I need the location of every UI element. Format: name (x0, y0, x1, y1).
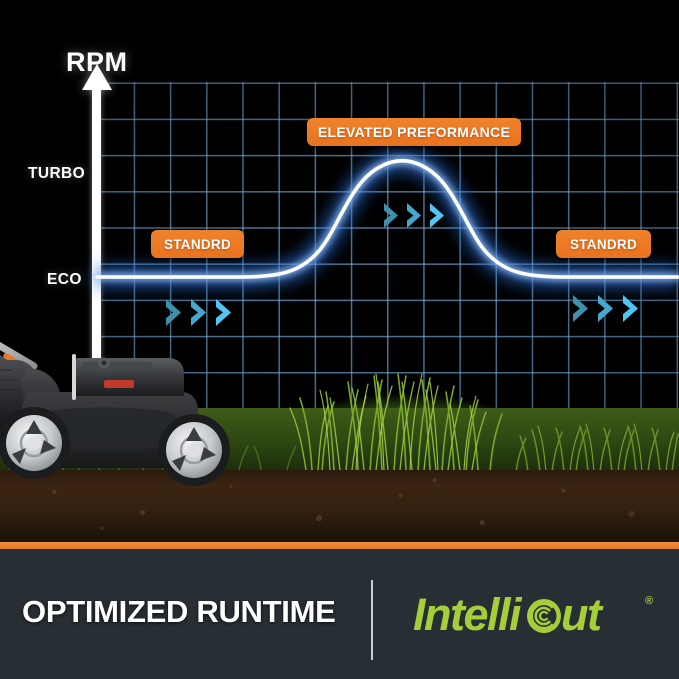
intellicut-logo: Intelli ut ® (413, 588, 663, 644)
svg-text:ut: ut (561, 589, 604, 640)
lawn-mower-image (0, 330, 262, 490)
mower-wheel-rear (0, 407, 70, 479)
chevron-group-mid (381, 201, 448, 230)
mower-wheel-front (158, 414, 230, 486)
logo-wordmark: Intelli ut (413, 589, 604, 640)
badge-elevated-performance: ELEVATED PREFORMANCE (307, 118, 521, 146)
mower-battery (74, 358, 184, 397)
svg-text:Intelli: Intelli (413, 589, 523, 640)
badge-standard-left: STANDRD (151, 230, 244, 258)
banner-headline: OPTIMIZED RUNTIME (22, 594, 336, 630)
chevron-right-icon (404, 201, 425, 230)
orange-divider (0, 542, 679, 549)
logo-spiral-c-icon (527, 599, 561, 633)
badge-standard-right: STANDRD (556, 230, 651, 258)
logo-trademark: ® (645, 595, 653, 607)
chart-area: RPM TURBO ECO STANDRD ELEVATED PREFORMAN… (0, 0, 679, 543)
chevron-right-icon (427, 201, 448, 230)
chevron-right-icon (381, 201, 402, 230)
banner-separator (371, 580, 373, 660)
